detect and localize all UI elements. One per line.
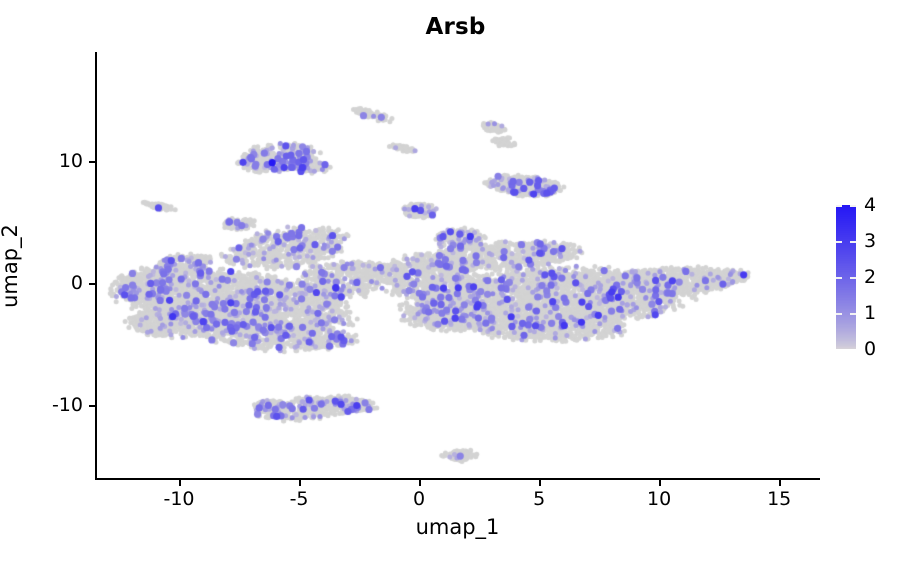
colorbar-tick-mark [836,277,842,279]
colorbar-tick-mark [836,241,842,243]
x-tick-label: -5 [290,488,309,510]
x-tick-label: 10 [647,488,671,510]
colorbar-tick-mark [850,313,856,315]
colorbar-tick-mark [836,313,842,315]
x-tick-mark [179,480,181,486]
colorbar-tick-label: 4 [864,194,876,216]
chart-title: Arsb [0,14,911,40]
colorbar-tick-label: 0 [864,338,876,360]
y-tick-label: 0 [71,272,83,294]
colorbar-tick-mark [850,277,856,279]
colorbar-tick-label: 2 [864,266,876,288]
y-tick-mark [89,283,95,285]
colorbar-tick-mark [850,241,856,243]
x-tick-label: 15 [767,488,791,510]
x-tick-label: 5 [533,488,545,510]
plot-axes [95,52,820,480]
colorbar-tick-label: 1 [864,302,876,324]
y-tick-label: 10 [59,150,83,172]
umap-scatter-canvas [97,52,820,478]
x-tick-mark [299,480,301,486]
colorbar-tick-label: 3 [864,230,876,252]
x-tick-label: 0 [413,488,425,510]
scatter-area [97,52,820,478]
x-tick-mark [659,480,661,486]
x-tick-mark [419,480,421,486]
x-axis-label: umap_1 [95,515,820,539]
y-axis-label: umap_2 [0,224,22,308]
colorbar-tick-mark [850,205,856,207]
y-tick-mark [89,405,95,407]
x-tick-label: -10 [163,488,194,510]
x-tick-mark [779,480,781,486]
y-tick-mark [89,161,95,163]
y-tick-label: -10 [52,394,83,416]
figure-root: Arsb -10-5051015 100-10 umap_1 umap_2 01… [0,0,911,562]
colorbar-tick-mark [836,205,842,207]
x-tick-mark [539,480,541,486]
